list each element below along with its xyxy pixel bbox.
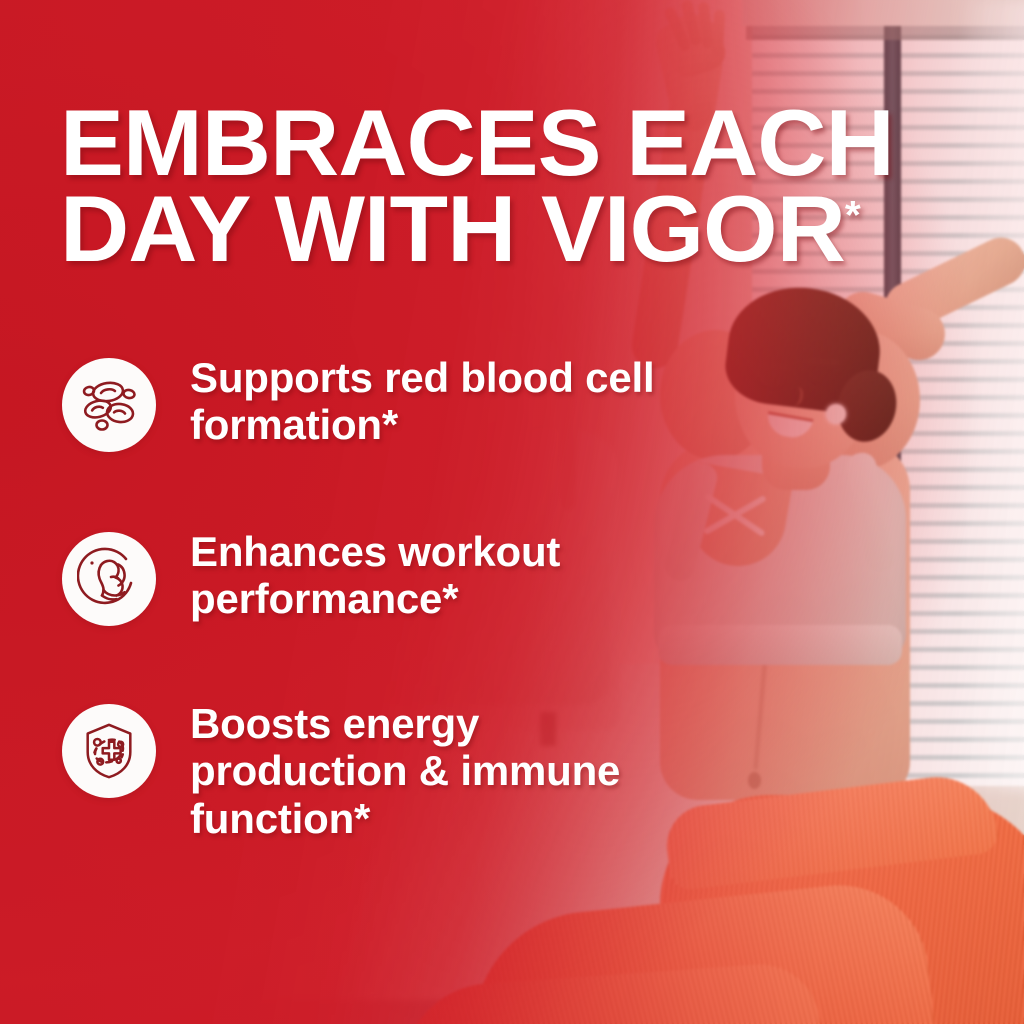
feature-label: Enhances workout performance* — [190, 526, 670, 623]
feature-item-workout-performance: Enhances workout performance* — [62, 526, 682, 626]
headline-line-1: EMBRACES EACH — [60, 100, 958, 186]
flexing-arm-muscle-icon — [62, 532, 156, 626]
feature-item-energy-immune: Boosts energy production & immune functi… — [62, 698, 682, 842]
red-blood-cells-icon — [62, 358, 156, 452]
feature-label: Supports red blood cell formation* — [190, 352, 670, 449]
headline: EMBRACES EACH DAY WITH VIGOR* — [60, 100, 958, 273]
feature-item-red-blood-cells: Supports red blood cell formation* — [62, 352, 682, 452]
headline-asterisk: * — [845, 194, 860, 238]
feature-list: Supports red blood cell formation* — [62, 352, 682, 842]
shield-medical-cross-icon — [62, 704, 156, 798]
feature-label: Boosts energy production & immune functi… — [190, 698, 670, 842]
headline-line-2: DAY WITH VIGOR* — [60, 186, 958, 272]
headline-line-2-text: DAY WITH VIGOR — [60, 176, 845, 281]
supplement-benefits-ad: EMBRACES EACH DAY WITH VIGOR* — [0, 0, 1024, 1024]
ad-content: EMBRACES EACH DAY WITH VIGOR* — [0, 0, 1024, 1024]
